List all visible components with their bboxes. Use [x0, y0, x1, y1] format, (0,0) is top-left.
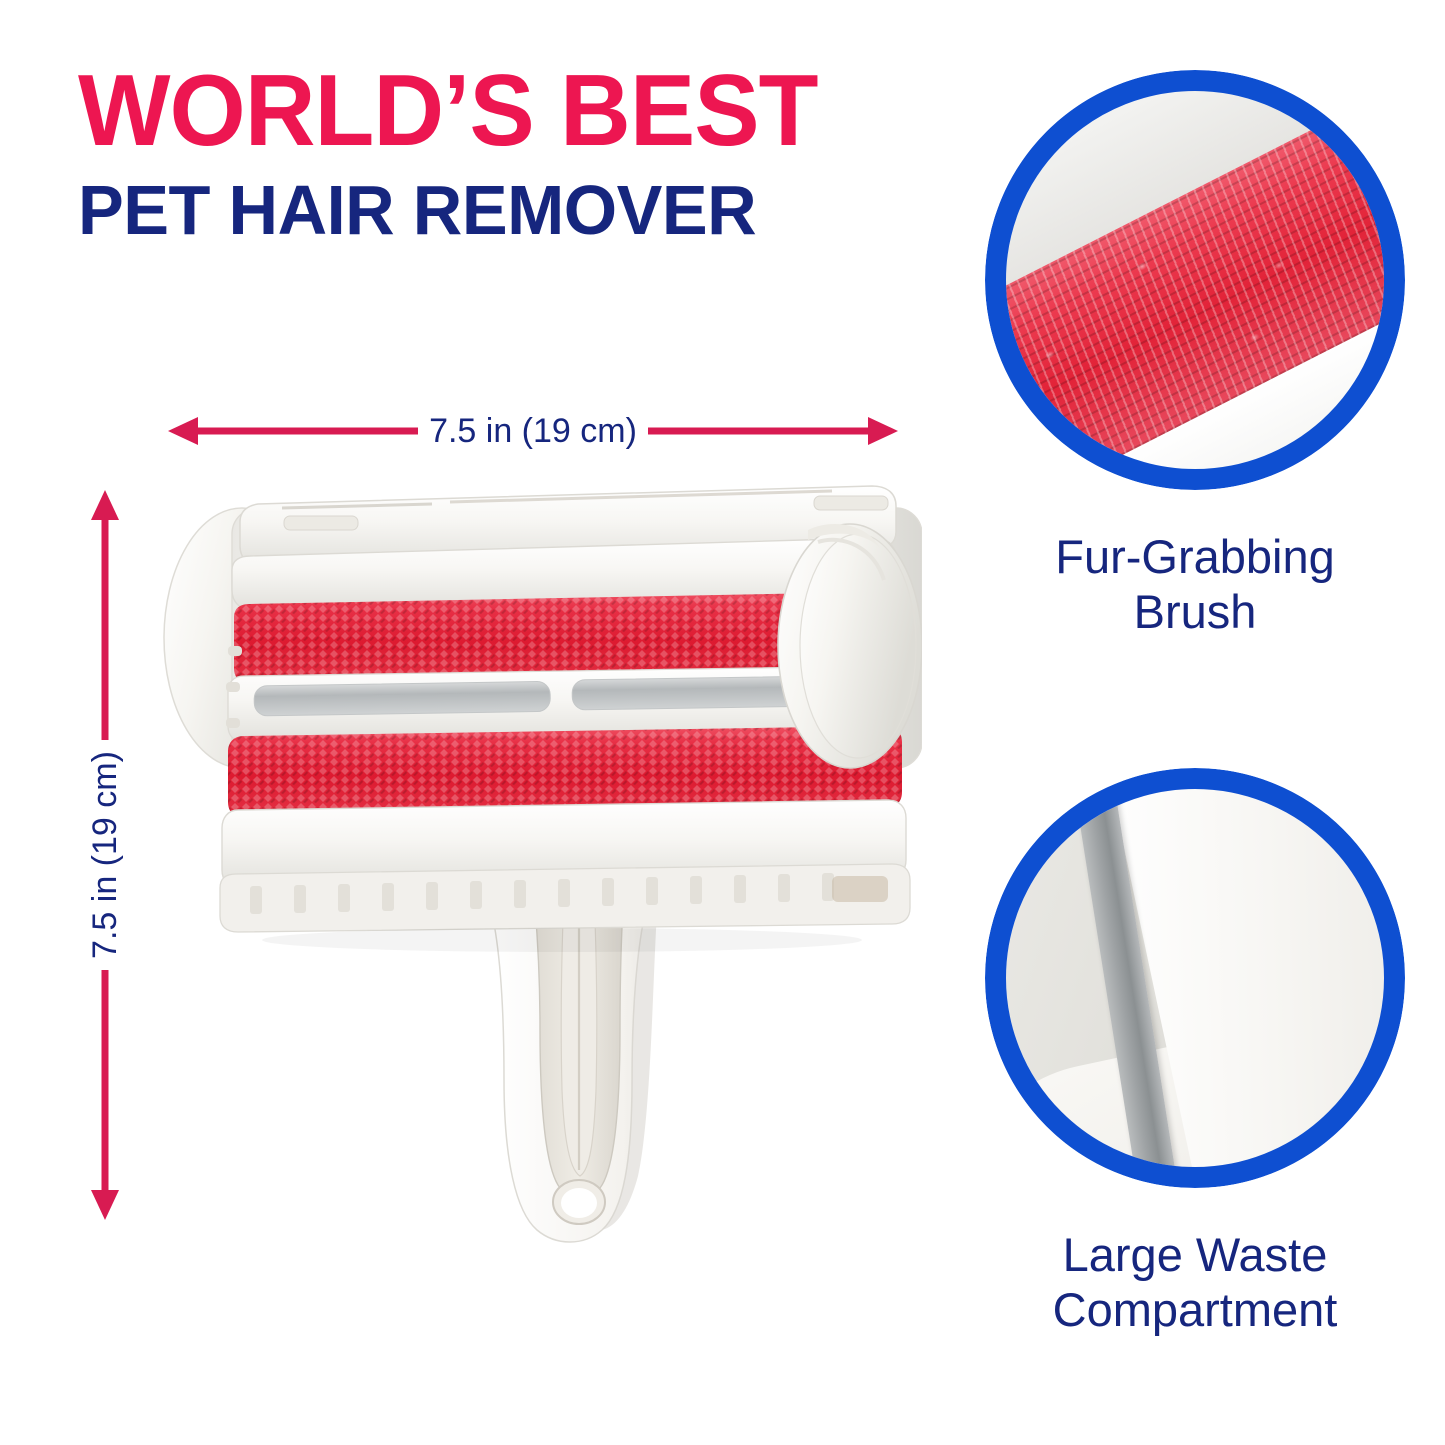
page-title: WORLD’S BEST PET HAIR REMOVER — [78, 62, 958, 246]
top-slot-left — [284, 516, 358, 530]
callout-2-label: Large Waste Compartment — [985, 1228, 1405, 1337]
product-image — [132, 470, 922, 1260]
callout-2-circle — [985, 768, 1405, 1188]
dimension-height: 7.5 in (19 cm) — [74, 490, 136, 1220]
right-end-cap-inner — [800, 534, 916, 758]
top-slot-right — [814, 496, 888, 510]
height-dimension-label: 7.5 in (19 cm) — [78, 490, 132, 1220]
infographic-page: WORLD’S BEST PET HAIR REMOVER 7.5 in (19… — [0, 0, 1445, 1445]
callout-1-label: Fur-Grabbing Brush — [985, 530, 1405, 639]
callout-fur-grabbing-brush: Fur-Grabbing Brush — [985, 70, 1405, 639]
headline-primary: WORLD’S BEST — [78, 62, 932, 161]
callout-large-waste-compartment: Large Waste Compartment — [985, 768, 1405, 1337]
callout-1-label-line2: Brush — [985, 585, 1405, 640]
dimension-width: 7.5 in (19 cm) — [168, 404, 898, 458]
comb-shadow-right — [832, 876, 888, 902]
brush-closeup-art — [1006, 91, 1384, 469]
callout-1-photo — [1006, 91, 1384, 469]
hang-hole — [561, 1188, 597, 1218]
waste-compartment-art — [1006, 789, 1384, 1167]
grey-strip-left — [254, 681, 550, 716]
pet-hair-remover-illustration — [132, 470, 922, 1260]
callout-2-label-line2: Compartment — [985, 1283, 1405, 1338]
callout-2-label-line1: Large Waste — [985, 1228, 1405, 1283]
callout-1-label-line1: Fur-Grabbing — [985, 530, 1405, 585]
product-shadow — [262, 928, 862, 952]
callout-1-circle — [985, 70, 1405, 490]
callout-2-photo — [1006, 789, 1384, 1167]
width-dimension-label: 7.5 in (19 cm) — [168, 404, 898, 458]
headline-secondary: PET HAIR REMOVER — [78, 175, 940, 246]
